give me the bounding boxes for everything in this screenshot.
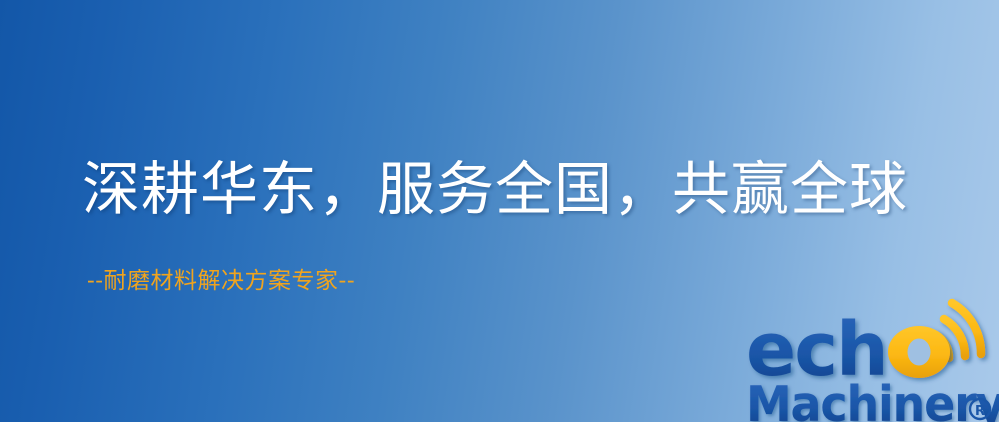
logo-wordmark-o <box>888 326 950 378</box>
logo-artwork: ech Machinery R <box>744 296 999 422</box>
echo-machinery-logo[interactable]: ech Machinery R <box>744 296 999 422</box>
page-title: 深耕华东，服务全国，共赢全球 <box>82 152 908 226</box>
svg-text:Machinery: Machinery <box>746 377 999 422</box>
page-subtitle: --耐磨材料解决方案专家-- <box>87 266 355 296</box>
logo-wordmark-machinery: Machinery <box>746 377 999 422</box>
promo-banner: 深耕华东，服务全国，共赢全球 --耐磨材料解决方案专家-- <box>0 0 999 422</box>
svg-text:R: R <box>975 404 985 419</box>
